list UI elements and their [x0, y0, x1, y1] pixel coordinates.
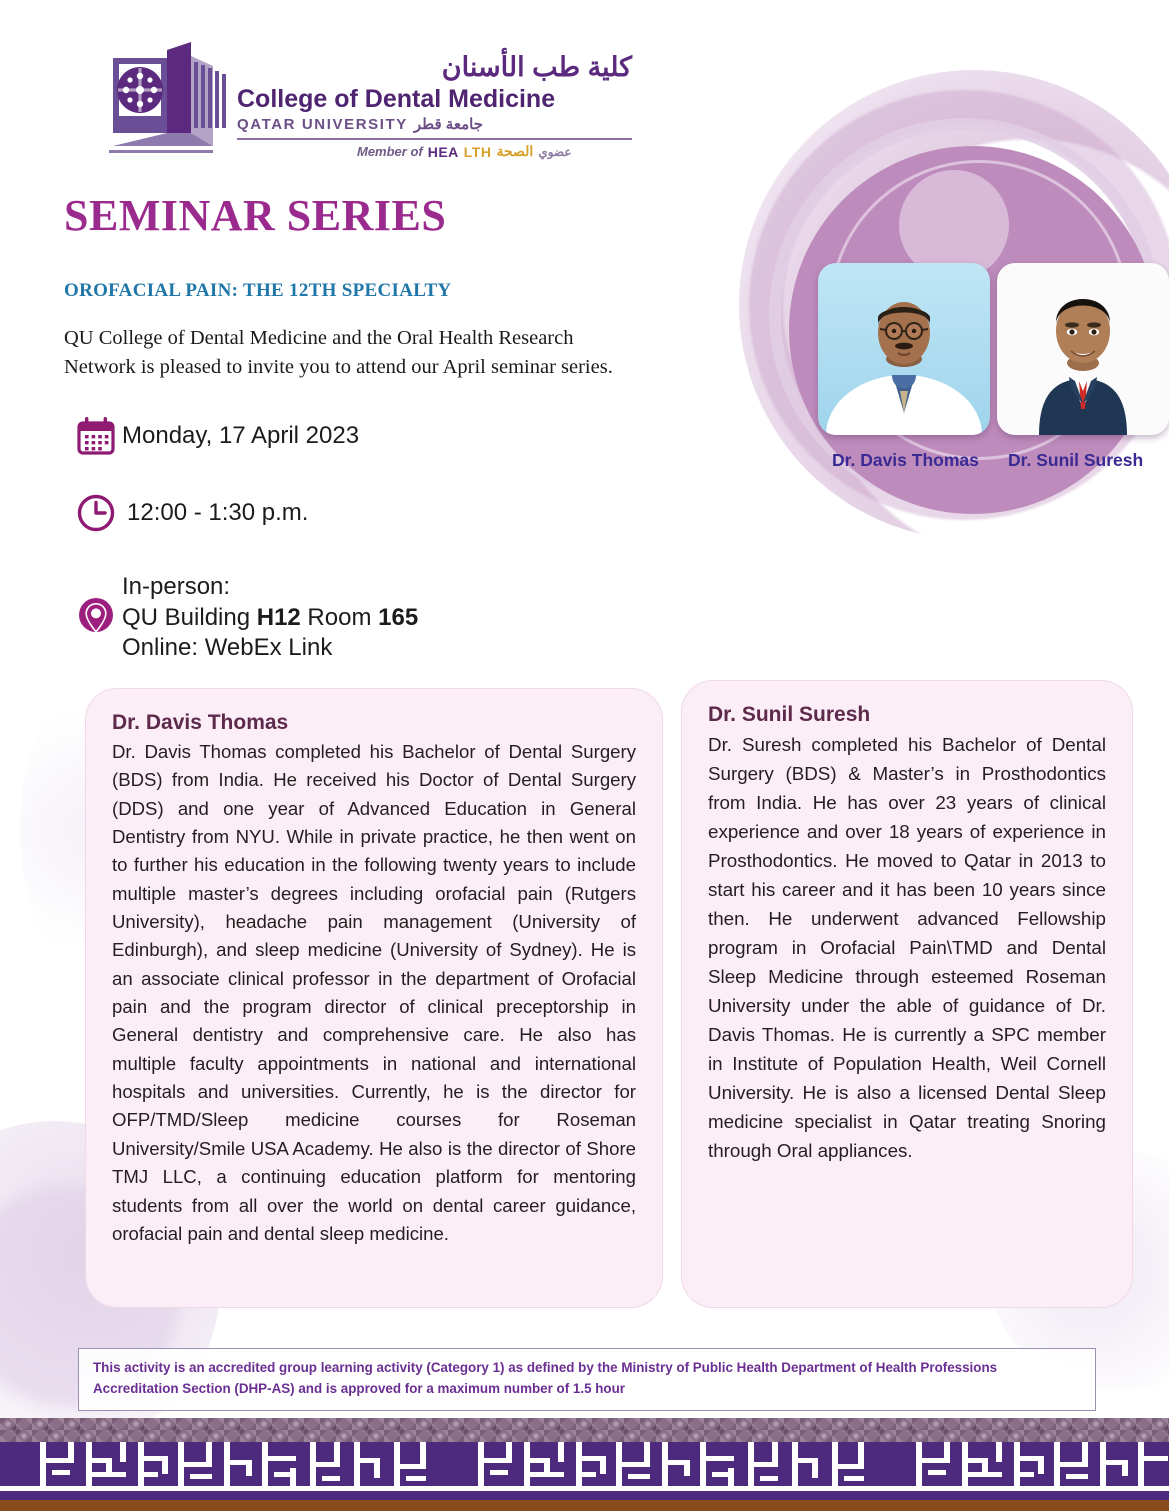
speaker-caption-sunil-suresh: Dr. Sunil Suresh: [1008, 450, 1143, 471]
event-time-row: 12:00 - 1:30 p.m.: [70, 492, 308, 534]
seminar-subtitle: OROFACIAL PAIN: THE 12TH SPECIALTY: [64, 280, 451, 302]
speaker-photo-sunil-suresh: [997, 263, 1169, 435]
location-building-code: H12: [257, 604, 301, 631]
page-title: SEMINAR SERIES: [64, 190, 446, 241]
location-room-label: Room: [301, 604, 378, 631]
accreditation-text: This activity is an accredited group lea…: [93, 1358, 1081, 1400]
bio-text-sunil-suresh: Dr. Suresh completed his Bachelor of Den…: [708, 730, 1106, 1165]
logo-english-title: College of Dental Medicine: [237, 84, 632, 114]
logo-divider: [237, 138, 632, 140]
event-location-text: In-person: QU Building H12 Room 165 Onli…: [122, 572, 418, 664]
kufic-pattern-icon: [0, 1442, 1169, 1500]
bio-card-davis-thomas: Dr. Davis Thomas Dr. Davis Thomas comple…: [85, 688, 663, 1308]
qu-logo-icon: [95, 38, 227, 158]
logo-arabic-title: كلية طب الأسنان: [237, 52, 632, 83]
speaker-caption-davis-thomas: Dr. Davis Thomas: [832, 450, 979, 471]
logo-health-lth: LTH: [464, 144, 492, 160]
event-date-row: Monday, 17 April 2023: [70, 415, 359, 457]
logo-university-ar: جامعة قطر: [414, 115, 483, 133]
logo-university-line: QATAR UNIVERSITY جامعة قطر: [237, 115, 632, 133]
location-room-number: 165: [378, 604, 418, 631]
accreditation-box: This activity is an accredited group lea…: [78, 1348, 1096, 1411]
logo-member-line: Member of HEALTH الصحة عضوي: [357, 143, 632, 160]
logo-health-hea: HEA: [428, 144, 459, 160]
calendar-icon: [70, 415, 122, 457]
bio-card-sunil-suresh: Dr. Sunil Suresh Dr. Suresh completed hi…: [681, 680, 1133, 1308]
clock-icon: [70, 492, 122, 534]
logo-university-en: QATAR UNIVERSITY: [237, 116, 408, 133]
event-time-text: 12:00 - 1:30 p.m.: [122, 498, 308, 529]
ornament-pattern-strip: [0, 1418, 1169, 1442]
event-date-text: Monday, 17 April 2023: [122, 421, 359, 452]
kufic-calligraphy-band: [0, 1442, 1169, 1500]
logo-member-arabic: عضوي: [538, 145, 571, 159]
college-logo: كلية طب الأسنان College of Dental Medici…: [95, 38, 632, 160]
location-mode: In-person:: [122, 573, 230, 600]
logo-health-arabic: الصحة: [496, 143, 533, 160]
bio-text-davis-thomas: Dr. Davis Thomas completed his Bachelor …: [112, 738, 636, 1248]
location-building-pre: QU Building: [122, 604, 257, 631]
logo-member-of-label: Member of: [357, 144, 423, 159]
event-location-row: In-person: QU Building H12 Room 165 Onli…: [70, 572, 418, 664]
location-online: Online: WebEx Link: [122, 634, 332, 661]
bio-name-sunil-suresh: Dr. Sunil Suresh: [708, 703, 1106, 727]
ornament-brown-strip: [0, 1500, 1169, 1511]
intro-paragraph: QU College of Dental Medicine and the Or…: [64, 324, 639, 382]
location-pin-icon: [70, 594, 122, 640]
bio-name-davis-thomas: Dr. Davis Thomas: [112, 711, 636, 735]
speaker-photo-davis-thomas: [818, 263, 990, 435]
